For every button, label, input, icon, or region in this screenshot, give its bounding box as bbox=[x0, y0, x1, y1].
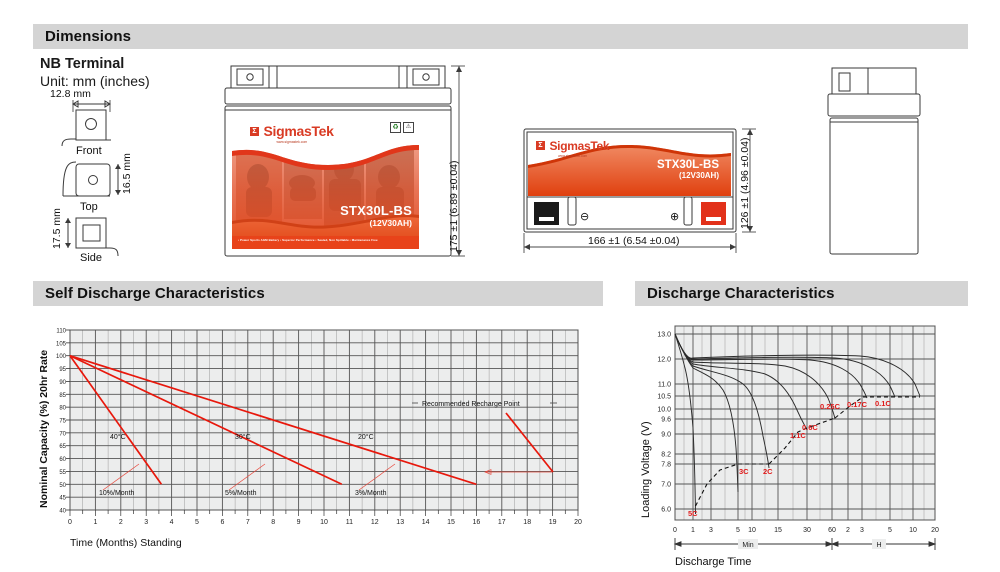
brand-website: www.sigmastek.com bbox=[250, 140, 334, 144]
battery-depth-dim: 126 ±1 (4.96 ±0.04) bbox=[739, 137, 751, 229]
svg-text:10: 10 bbox=[748, 527, 756, 534]
svg-text:12.0: 12.0 bbox=[657, 357, 671, 364]
svg-text:60: 60 bbox=[59, 457, 66, 463]
svg-text:10: 10 bbox=[909, 527, 917, 534]
svg-text:8: 8 bbox=[271, 519, 275, 526]
battery-features: • Power Sports AGM Battery • Superior Pe… bbox=[238, 238, 378, 242]
section-header-self-discharge: Self Discharge Characteristics bbox=[33, 281, 603, 306]
svg-text:30: 30 bbox=[803, 527, 811, 534]
sigma-mark-icon: Σ bbox=[536, 141, 545, 150]
svg-text:2: 2 bbox=[119, 519, 123, 526]
svg-text:95: 95 bbox=[59, 367, 66, 373]
section-title-discharge: Discharge Characteristics bbox=[635, 285, 835, 302]
recycle-icon: ♻ bbox=[390, 122, 401, 133]
battery-height-dim: 175 ±1 (6.89 ±0.04) bbox=[448, 160, 460, 252]
battery-side-label: Σ SigmasTek www.sigmastek.com STX30L-BS … bbox=[528, 133, 731, 196]
svg-text:4: 4 bbox=[170, 519, 174, 526]
svg-text:6.0: 6.0 bbox=[661, 507, 671, 514]
battery-model: STX30L-BS bbox=[340, 203, 412, 218]
battery-model: STX30L-BS bbox=[657, 159, 719, 171]
terminal-side-view: 17.5 mm Side bbox=[51, 208, 118, 264]
unit-min-label: Min bbox=[742, 542, 753, 549]
svg-text:13.0: 13.0 bbox=[657, 332, 671, 339]
discharge-x-axis-title: Discharge Time bbox=[675, 556, 751, 568]
label-5C: 5C bbox=[688, 509, 698, 518]
section-title-dimensions: Dimensions bbox=[33, 28, 131, 45]
annotation-40C: 40°C bbox=[110, 433, 126, 441]
label-1.1C: 1.1C bbox=[790, 431, 806, 440]
negative-terminal-symbol: ⊖ bbox=[580, 211, 589, 223]
battery-front-label: Σ SigmasTek www.sigmastek.com ♻ ⚠ STX30L… bbox=[232, 117, 419, 249]
svg-text:6: 6 bbox=[220, 519, 224, 526]
brand-name: SigmasTek bbox=[549, 139, 609, 153]
svg-text:80: 80 bbox=[59, 406, 66, 412]
svg-text:8.2: 8.2 bbox=[661, 452, 671, 459]
svg-text:5: 5 bbox=[195, 519, 199, 526]
svg-text:10.5: 10.5 bbox=[657, 394, 671, 401]
sigma-mark-icon: Σ bbox=[250, 127, 259, 136]
svg-text:18: 18 bbox=[523, 519, 531, 526]
top-depth-label: 16.5 mm bbox=[121, 153, 133, 194]
discharge-chart: 13.012.011.0 10.510.09.6 9.08.27.8 7.06.… bbox=[635, 318, 975, 568]
svg-text:0: 0 bbox=[68, 519, 72, 526]
svg-text:17: 17 bbox=[498, 519, 506, 526]
svg-text:11: 11 bbox=[346, 519, 353, 526]
svg-text:7.8: 7.8 bbox=[661, 462, 671, 469]
svg-text:19: 19 bbox=[549, 519, 557, 526]
svg-text:90: 90 bbox=[59, 380, 66, 386]
discharge-x-ticks: 013 51015 3060 235 1020 bbox=[673, 527, 939, 534]
terminal-top-view: 16.5 mm Top bbox=[63, 153, 133, 213]
battery-end-view bbox=[820, 62, 930, 262]
x-axis-ticks: 012 345 678 91011 121314 151617 181920 bbox=[68, 519, 582, 526]
label-icons: ♻ ⚠ bbox=[390, 122, 414, 133]
label-0.17C: 0.17C bbox=[847, 400, 868, 409]
side-view-label: Side bbox=[80, 252, 102, 264]
svg-text:9: 9 bbox=[297, 519, 301, 526]
front-width-label: 12.8 mm bbox=[50, 88, 91, 100]
section-title-self-discharge: Self Discharge Characteristics bbox=[33, 285, 265, 302]
unit-hour-label: H bbox=[876, 542, 881, 549]
svg-text:3: 3 bbox=[860, 527, 864, 534]
svg-text:45: 45 bbox=[59, 496, 66, 502]
svg-text:15: 15 bbox=[447, 519, 455, 526]
lead-warning-icon: ⚠ bbox=[403, 122, 414, 133]
svg-text:20: 20 bbox=[931, 527, 939, 534]
svg-text:9.0: 9.0 bbox=[661, 432, 671, 439]
svg-text:60: 60 bbox=[828, 527, 836, 534]
annotation-20C: 20°C bbox=[358, 433, 374, 441]
y-axis-title: Nominal Capacity (%) 20hr Rate bbox=[38, 350, 50, 508]
annotation-30C: 30°C bbox=[235, 433, 251, 441]
side-model-block: STX30L-BS (12V30AH) bbox=[657, 159, 719, 180]
brand-logo: Σ SigmasTek www.sigmastek.com bbox=[250, 123, 334, 144]
svg-text:5: 5 bbox=[736, 527, 740, 534]
battery-model-block: STX30L-BS (12V30AH) bbox=[340, 203, 412, 228]
svg-text:11.0: 11.0 bbox=[658, 382, 671, 389]
svg-text:40: 40 bbox=[59, 509, 66, 515]
svg-text:75: 75 bbox=[59, 419, 66, 425]
battery-spec: (12V30AH) bbox=[340, 218, 412, 228]
nb-terminal-title: NB Terminal bbox=[40, 56, 124, 72]
svg-text:5: 5 bbox=[888, 527, 892, 534]
discharge-y-ticks: 13.012.011.0 10.510.09.6 9.08.27.8 7.06.… bbox=[657, 332, 671, 514]
side-height-label: 17.5 mm bbox=[51, 208, 63, 249]
label-3C: 3C bbox=[739, 467, 749, 476]
svg-text:105: 105 bbox=[56, 341, 67, 347]
svg-text:14: 14 bbox=[422, 519, 430, 526]
terminal-drawings: 12.8 mm Front 16.5 mm Top 17.5 mm Side bbox=[38, 88, 203, 263]
svg-text:50: 50 bbox=[59, 483, 66, 489]
positive-terminal-symbol: ⊕ bbox=[670, 211, 679, 223]
battery-length-dim: 166 ±1 (6.54 ±0.04) bbox=[588, 235, 680, 247]
svg-text:85: 85 bbox=[59, 393, 66, 399]
annotation-10pct: 10%/Month bbox=[99, 490, 135, 497]
y-axis-ticks: 110105100 959085 807570 656055 504540 bbox=[56, 329, 67, 515]
svg-text:10.0: 10.0 bbox=[657, 407, 671, 414]
front-view-label: Front bbox=[76, 145, 102, 157]
brand-website: www.sigmastek.com bbox=[536, 154, 609, 158]
label-2C: 2C bbox=[763, 467, 773, 476]
svg-text:2: 2 bbox=[846, 527, 850, 534]
section-header-discharge: Discharge Characteristics bbox=[635, 281, 968, 306]
svg-text:10: 10 bbox=[320, 519, 328, 526]
section-header-dimensions: Dimensions bbox=[33, 24, 968, 49]
svg-text:7: 7 bbox=[246, 519, 250, 526]
top-view-label: Top bbox=[80, 201, 98, 213]
svg-text:16: 16 bbox=[473, 519, 481, 526]
svg-text:65: 65 bbox=[59, 444, 66, 450]
terminal-front-view: 12.8 mm Front bbox=[50, 88, 111, 157]
x-axis-title: Time (Months) Standing bbox=[70, 537, 182, 549]
svg-text:110: 110 bbox=[56, 329, 66, 335]
discharge-y-axis-title: Loading Voltage (V) bbox=[640, 421, 652, 518]
label-0.1C: 0.1C bbox=[875, 399, 891, 408]
brand-name: SigmasTek bbox=[263, 123, 333, 139]
annotation-recharge-point: Recommended Recharge Point bbox=[422, 401, 520, 408]
svg-text:1: 1 bbox=[691, 527, 695, 534]
svg-text:15: 15 bbox=[774, 527, 782, 534]
svg-text:3: 3 bbox=[709, 527, 713, 534]
svg-text:20: 20 bbox=[574, 519, 582, 526]
time-scale-bar bbox=[675, 538, 935, 550]
svg-text:1: 1 bbox=[93, 519, 97, 526]
svg-text:7.0: 7.0 bbox=[661, 482, 671, 489]
svg-text:55: 55 bbox=[59, 470, 66, 476]
annotation-5pct: 5%/Month bbox=[225, 490, 257, 497]
svg-text:13: 13 bbox=[396, 519, 404, 526]
svg-text:9.6: 9.6 bbox=[661, 417, 671, 424]
battery-spec: (12V30AH) bbox=[657, 171, 719, 180]
annotation-3pct: 3%/Month bbox=[355, 490, 387, 497]
svg-text:0: 0 bbox=[673, 527, 677, 534]
self-discharge-chart: 110105100 959085 807570 656055 504540 01… bbox=[33, 318, 593, 563]
side-brand-logo: Σ SigmasTek www.sigmastek.com bbox=[536, 137, 609, 158]
label-0.6C: 0.6C bbox=[802, 423, 818, 432]
svg-text:12: 12 bbox=[371, 519, 379, 526]
svg-text:3: 3 bbox=[144, 519, 148, 526]
svg-text:70: 70 bbox=[59, 431, 66, 437]
svg-text:100: 100 bbox=[56, 354, 67, 360]
label-0.25C: 0.25C bbox=[820, 402, 841, 411]
unit-label: Unit: mm (inches) bbox=[40, 73, 150, 89]
